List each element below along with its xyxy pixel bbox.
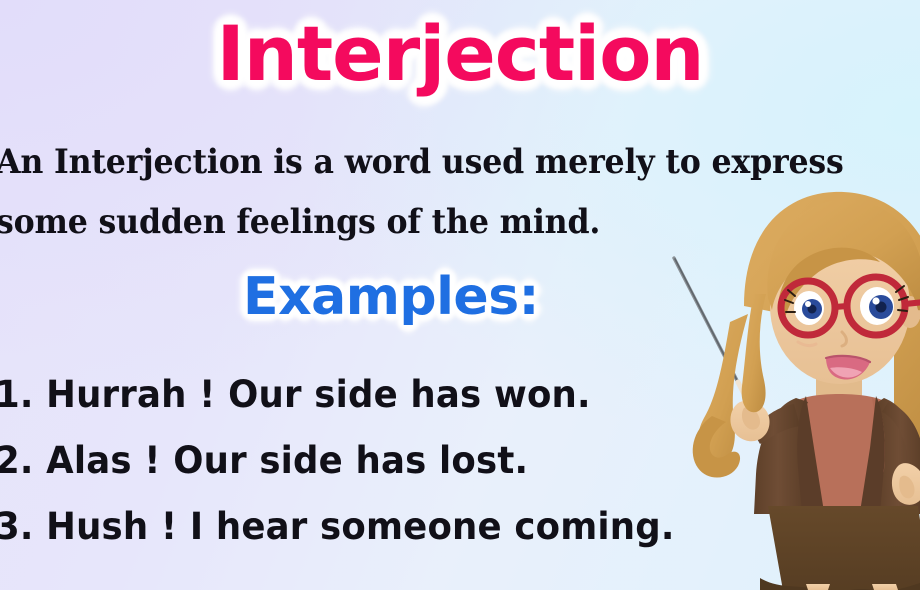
list-item: 2. Alas ! Our side has lost.	[0, 428, 782, 494]
leg-left	[806, 584, 830, 590]
examples-heading: Examples:	[0, 262, 920, 332]
poster-canvas: Interjection An Interjection is a word u…	[0, 0, 920, 590]
definition-text: An Interjection is a word used merely to…	[0, 132, 889, 252]
list-item: 1. Hurrah ! Our side has won.	[0, 362, 782, 428]
examples-list: 1. Hurrah ! Our side has won. 2. Alas ! …	[0, 362, 782, 560]
definition-line-1: An Interjection is a word used merely to…	[0, 132, 889, 192]
definition-line-2: some sudden feelings of the mind.	[0, 192, 889, 252]
page-title: Interjection	[0, 6, 920, 102]
skirt	[768, 506, 920, 590]
leg-right	[872, 584, 898, 590]
list-item: 3. Hush ! I hear someone coming.	[0, 494, 782, 560]
